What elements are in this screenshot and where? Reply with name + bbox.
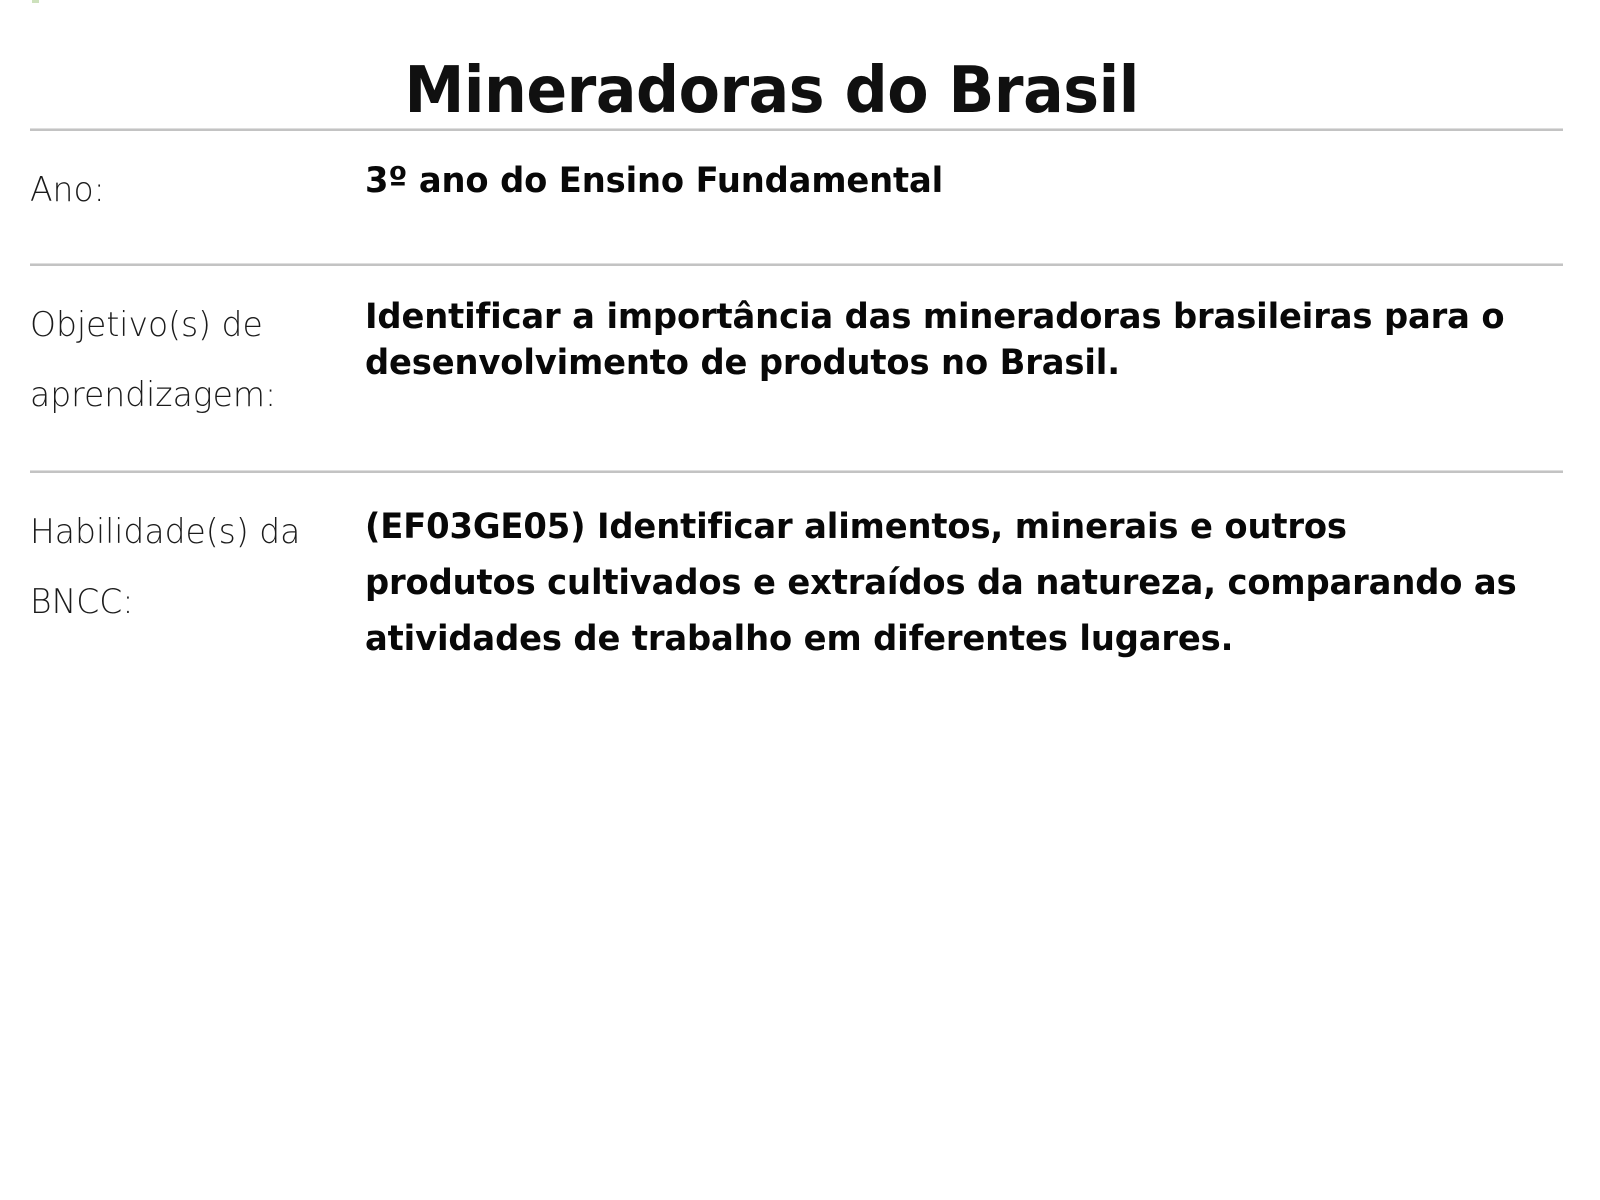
row-label-objetivo-aprendizagem: Objetivo(s) de aprendizagem: [30,266,355,470]
table-row-ano: Ano: 3º ano do Ensino Fundamental [30,131,1563,263]
row-value-objetivo-aprendizagem: Identificar a importância das mineradora… [365,266,1521,470]
row-value-ano: 3º ano do Ensino Fundamental [365,131,1521,263]
lesson-info-table: Ano: 3º ano do Ensino Fundamental Objeti… [30,131,1563,691]
page-title: Mineradoras do Brasil [51,0,1492,128]
row-label-habilidade-bncc: Habilidade(s) da BNCC: [30,473,355,691]
row-label-ano: Ano: [30,131,355,263]
document-page: Mineradoras do Brasil Ano: 3º ano do Ens… [0,0,1600,1200]
row-value-habilidade-bncc: (EF03GE05) Identificar alimentos, minera… [365,473,1521,691]
document-content: Mineradoras do Brasil Ano: 3º ano do Ens… [30,0,1563,691]
table-row-objetivo: Objetivo(s) de aprendizagem: Identificar… [30,266,1563,470]
table-row-bncc: Habilidade(s) da BNCC: (EF03GE05) Identi… [30,473,1563,691]
